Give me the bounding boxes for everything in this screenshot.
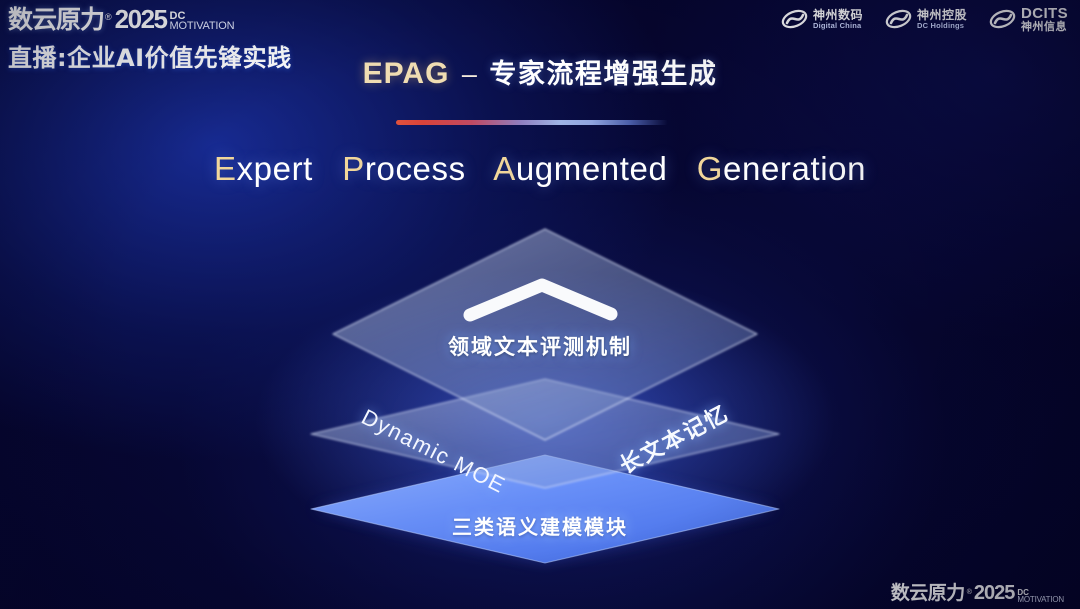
partner-name-cn: 神州信息: [1021, 21, 1068, 33]
headline-acronym: EPAG: [363, 57, 450, 90]
slide-canvas: 数云原力 ® 2025 DC MOTIVATION 直播:企业AI价值先锋实践 …: [0, 0, 1080, 609]
brand-dc-line2: MOTIVATION: [170, 21, 235, 31]
watermark-dc-motivation: DC MOTIVATION: [1017, 589, 1064, 603]
headline: EPAG – 专家流程增强生成: [0, 52, 1080, 91]
layer-bottom-shape: [311, 455, 779, 563]
watermark-registered-mark: ®: [967, 589, 972, 596]
watermark-logo: 数云原力 ® 2025 DC MOTIVATION: [891, 583, 1064, 603]
headline-dash: –: [462, 59, 477, 89]
partner-name-en: DCITS: [1021, 6, 1068, 21]
brand-year: 2025: [115, 6, 167, 32]
headline-chinese: 专家流程增强生成: [489, 59, 717, 90]
subhead-word-process: Process: [342, 150, 465, 187]
layer-label-top: 领域文本评测机制: [0, 331, 1080, 361]
layer-label-long-text-memory: 长文本记忆: [613, 396, 734, 481]
partner-name-cn: 神州控股: [917, 9, 967, 22]
brand-name-cn: 数云原力: [8, 7, 104, 32]
chevron-up-icon: [470, 285, 611, 315]
partner-name-en: DC Holdings: [917, 22, 967, 30]
partner-logo-dcits: DCITS 神州信息: [989, 6, 1068, 33]
partner-name-en: Digital China: [813, 22, 863, 30]
layer-label-dynamic-moe: Dynamic MOE: [357, 404, 510, 499]
swirl-logo-icon: [781, 8, 808, 30]
partner-logo-dc-holdings: 神州控股 DC Holdings: [885, 8, 967, 30]
brand-dc-motivation: DC MOTIVATION: [170, 11, 235, 31]
partner-logo-digital-china: 神州数码 Digital China: [781, 8, 863, 30]
partner-logo-text: DCITS 神州信息: [1021, 6, 1068, 33]
partner-name-cn: 神州数码: [813, 9, 863, 22]
gradient-divider: [396, 120, 668, 125]
subhead-word-augmented: Augmented: [493, 150, 667, 187]
watermark-name-cn: 数云原力: [891, 584, 965, 603]
partner-logo-text: 神州控股 DC Holdings: [917, 9, 967, 29]
watermark-year: 2025: [974, 583, 1015, 603]
subhead-expansion: Expert Process Augmented Generation: [0, 150, 1080, 188]
swirl-logo-icon: [989, 8, 1016, 30]
layer-label-bottom: 三类语义建模模块: [0, 511, 1080, 540]
swirl-logo-icon: [885, 8, 912, 30]
watermark-dc-line2: MOTIVATION: [1017, 596, 1064, 603]
partner-logo-group: 神州数码 Digital China 神州控股 DC Holdings: [781, 6, 1068, 33]
subhead-word-expert: Expert: [214, 150, 313, 187]
subhead-word-generation: Generation: [697, 150, 866, 187]
brand-logo: 数云原力 ® 2025 DC MOTIVATION: [8, 2, 348, 32]
partner-logo-text: 神州数码 Digital China: [813, 9, 863, 29]
registered-mark: ®: [105, 13, 112, 22]
